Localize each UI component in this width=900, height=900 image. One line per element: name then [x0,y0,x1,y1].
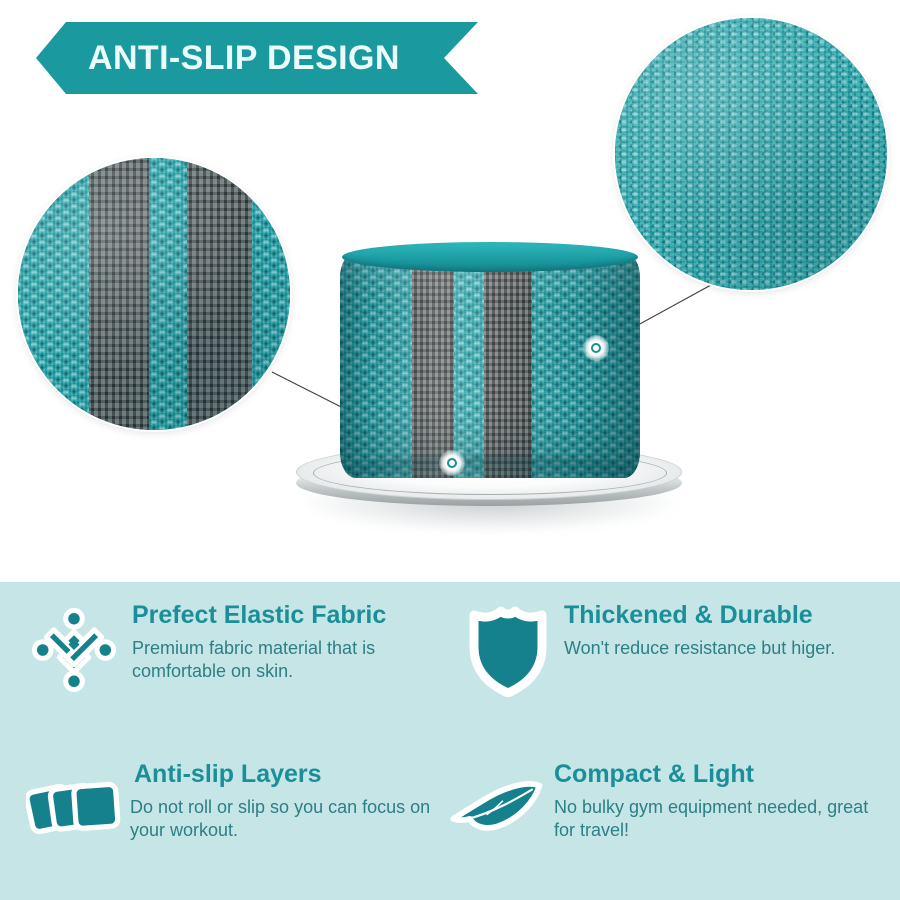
feature-text-block: Anti-slip Layers Do not roll or slip so … [122,755,440,843]
band-anti-slip-stripe [484,252,532,478]
feature-description: Won't reduce resistance but higer. [564,637,835,661]
band-anti-slip-stripe [412,252,454,478]
feature-title: Anti-slip Layers [130,761,440,789]
feature-item-compact-light: Compact & Light No bulky gym equipment n… [450,741,900,900]
resistance-band [340,242,640,484]
banner-title: ANTI-SLIP DESIGN [88,39,400,78]
shield-icon [460,602,556,698]
magnifier-stripes [18,158,290,430]
feather-icon [450,761,546,857]
feature-grid: Prefect Elastic Fabric Premium fabric ma… [0,582,900,900]
feature-description: Premium fabric material that is comforta… [132,637,440,685]
feature-item-anti-slip-layers: Anti-slip Layers Do not roll or slip so … [0,741,450,900]
feature-text-block: Thickened & Durable Won't reduce resista… [556,596,835,660]
knit-texture-stripes [18,158,290,430]
feature-title: Thickened & Durable [564,602,835,630]
feature-text-block: Prefect Elastic Fabric Premium fabric ma… [122,596,440,684]
band-bottom-rim [342,456,638,478]
hotspot-weave[interactable] [583,335,609,361]
feature-title: Compact & Light [554,761,890,789]
band-body [340,252,640,478]
hero-section: ANTI-SLIP DESIGN [0,0,900,582]
feature-title: Prefect Elastic Fabric [132,602,440,630]
banner-ribbon: ANTI-SLIP DESIGN [36,22,478,94]
hotspot-stripes[interactable] [439,450,465,476]
feature-item-elastic-fabric: Prefect Elastic Fabric Premium fabric ma… [0,582,450,741]
layers-icon [26,761,122,857]
feature-text-block: Compact & Light No bulky gym equipment n… [546,755,890,843]
feature-description: Do not roll or slip so you can focus on … [130,796,440,844]
band-top-rim [342,242,638,272]
hotspot-ring-icon [447,458,457,468]
people-group-icon [26,602,122,698]
feature-item-thickened-durable: Thickened & Durable Won't reduce resista… [450,582,900,741]
feature-description: No bulky gym equipment needed, great for… [554,796,890,844]
product-marketing-image: ANTI-SLIP DESIGN [0,0,900,900]
hotspot-ring-icon [591,343,601,353]
product-group [278,236,698,556]
